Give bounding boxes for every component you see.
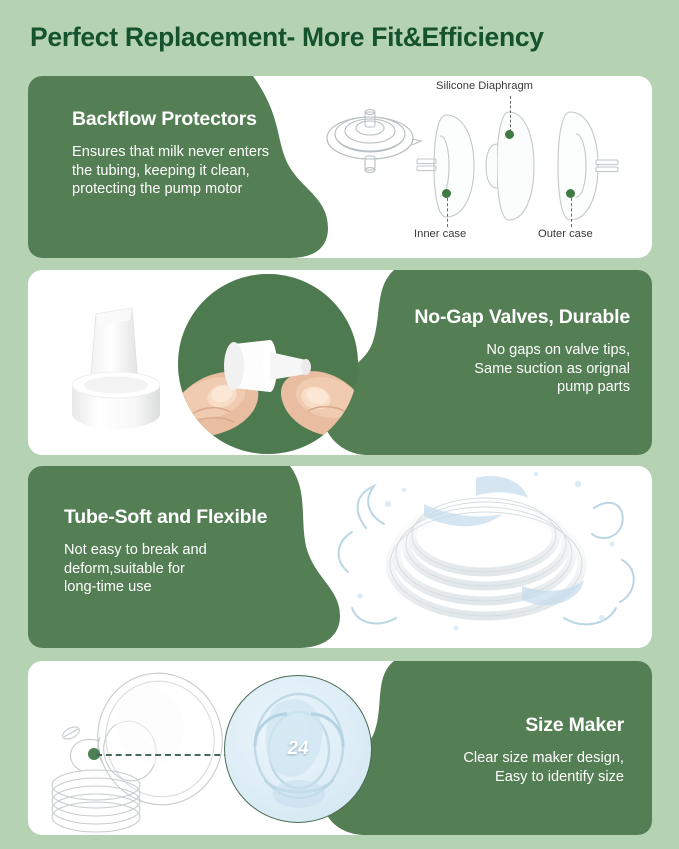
panel-text-size-maker: Size Maker Clear size maker design, Easy…	[463, 714, 624, 786]
panel-heading-size-maker: Size Maker	[463, 714, 624, 737]
panel-body-line: pump parts	[414, 378, 630, 397]
magnifier-connector-line	[96, 754, 240, 756]
feature-card-no-gap-valves: No-Gap Valves, Durable No gaps on valve …	[28, 270, 652, 455]
panel-body-line: Ensures that milk never enters	[72, 143, 269, 162]
callout-dot-outer-case	[566, 189, 575, 198]
page-title: Perfect Replacement- More Fit&Efficiency	[30, 22, 544, 53]
tube-splash-svg	[326, 468, 646, 648]
panel-body-line: long-time use	[64, 578, 267, 597]
panel-body-line: No gaps on valve tips,	[414, 341, 630, 360]
panel-heading-backflow: Backflow Protectors	[72, 108, 269, 131]
callout-line-outer-case	[571, 198, 572, 227]
hands-photo-svg	[178, 274, 358, 454]
backflow-protector-svg	[324, 76, 652, 258]
callout-line-inner-case	[447, 198, 448, 227]
panel-body-line: protecting the pump motor	[72, 180, 269, 199]
callout-dot-inner-case	[442, 189, 451, 198]
panel-body-no-gap-valves: No gaps on valve tips, Same suction as o…	[414, 341, 630, 397]
callout-label-outer-case: Outer case	[538, 228, 593, 240]
feature-card-backflow-protectors: Silicone Diaphragm Inner case Outer case…	[28, 76, 652, 258]
backflow-protector-exploded-diagram: Silicone Diaphragm Inner case Outer case	[324, 76, 652, 258]
feature-card-tube-soft-flexible: Tube-Soft and Flexible Not easy to break…	[28, 466, 652, 648]
panel-body-line: the tubing, keeping it clean,	[72, 162, 269, 181]
panel-body-line: deform,suitable for	[64, 560, 267, 579]
coiled-tubing-with-water-splash	[326, 468, 646, 648]
panel-body-line: Not easy to break and	[64, 541, 267, 560]
panel-body-line: Easy to identify size	[463, 768, 624, 787]
panel-text-backflow: Backflow Protectors Ensures that milk ne…	[72, 108, 269, 199]
panel-heading-tube: Tube-Soft and Flexible	[64, 506, 267, 529]
callout-line-silicone-diaphragm	[510, 96, 511, 132]
callout-dot-silicone-diaphragm	[505, 130, 514, 139]
panel-text-no-gap-valves: No-Gap Valves, Durable No gaps on valve …	[414, 306, 630, 397]
magnifier-circle: 24	[224, 675, 372, 823]
white-duckbill-valve-product	[46, 286, 196, 446]
callout-label-inner-case: Inner case	[414, 228, 466, 240]
panel-body-line: Same suction as orignal	[414, 360, 630, 379]
duckbill-valve-svg	[46, 286, 196, 446]
feature-card-size-maker: 24 Size Maker Clear size maker design, E…	[28, 661, 652, 835]
size-marker-value: 24	[286, 738, 310, 760]
panel-body-line: Clear size maker design,	[463, 749, 624, 768]
panel-heading-no-gap-valves: No-Gap Valves, Durable	[414, 306, 630, 329]
panel-text-tube: Tube-Soft and Flexible Not easy to break…	[64, 506, 267, 597]
panel-body-backflow: Ensures that milk never enters the tubin…	[72, 143, 269, 199]
callout-label-silicone-diaphragm: Silicone Diaphragm	[436, 80, 533, 92]
panel-body-size-maker: Clear size maker design, Easy to identif…	[463, 749, 624, 786]
hands-stretching-valve-photo	[178, 274, 358, 454]
panel-body-tube: Not easy to break and deform,suitable fo…	[64, 541, 267, 597]
